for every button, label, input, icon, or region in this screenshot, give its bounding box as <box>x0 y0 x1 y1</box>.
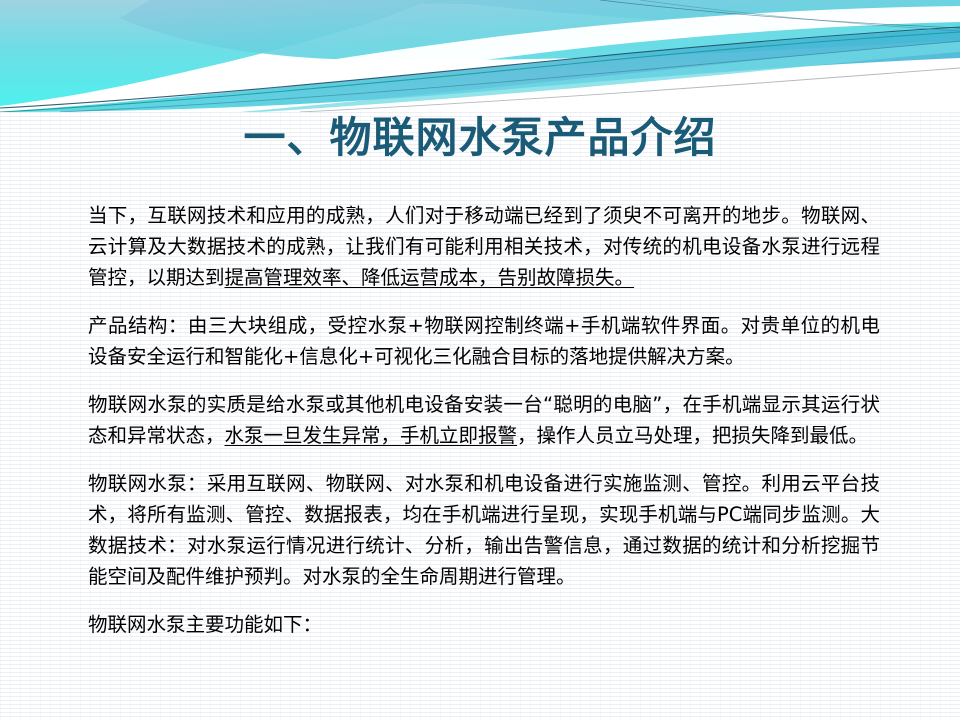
wave-hairline-navy <box>0 27 960 108</box>
text-segment: 物联网水泵：采用互联网、物联网、对水泵和机电设备进行实施监测、管控。利用云平台技… <box>88 472 880 588</box>
text-segment-underlined: 提高管理效率、降低运营成本，告别故障损失。 <box>225 266 635 289</box>
wave-hairline-teal <box>0 32 960 112</box>
text-segment: 物联网水泵主要功能如下： <box>88 613 322 636</box>
wave-upper-band <box>0 0 960 27</box>
wave-left-mass <box>0 0 430 106</box>
wave-lower-ribbon <box>0 28 960 112</box>
wave-hairline-top <box>600 0 960 28</box>
wave-hairline-gray <box>300 68 960 112</box>
wave-thin-ribbon <box>240 42 960 112</box>
slide-body: 当下，互联网技术和应用的成熟，人们对于移动端已经到了须臾不可离开的地步。物联网、… <box>88 200 880 640</box>
wave-base <box>0 0 960 112</box>
paragraph-essence: 物联网水泵的实质是给水泵或其他机电设备安装一台“聪明的电脑”，在手机端显示其运行… <box>88 389 880 451</box>
title-block: 一、物联网水泵产品介绍 <box>0 113 960 163</box>
paragraph-technology: 物联网水泵：采用互联网、物联网、对水泵和机电设备进行实施监测、管控。利用云平台技… <box>88 468 880 592</box>
page-title: 一、物联网水泵产品介绍 <box>0 113 960 163</box>
wave-hairline-steel <box>60 41 960 112</box>
wave-hairline-top-2 <box>640 0 960 31</box>
wave-white-swoosh <box>0 6 960 112</box>
text-segment: 产品结构：由三大块组成，受控水泵+物联网控制终端+手机端软件界面。对贵单位的机电… <box>88 314 880 368</box>
paragraph-intro: 当下，互联网技术和应用的成熟，人们对于移动端已经到了须臾不可离开的地步。物联网、… <box>88 200 880 293</box>
text-segment-underlined: 水泵一旦发生异常，手机立即报警 <box>225 424 518 447</box>
text-segment: ，操作人员立马处理，把损失降到最低。 <box>517 424 868 447</box>
wave-mid-band <box>120 0 960 60</box>
paragraph-product-structure: 产品结构：由三大块组成，受控水泵+物联网控制终端+手机端软件界面。对贵单位的机电… <box>88 310 880 372</box>
paragraph-functions-lead: 物联网水泵主要功能如下： <box>88 609 880 640</box>
wave-banner-decoration <box>0 0 960 112</box>
presentation-slide: 一、物联网水泵产品介绍 当下，互联网技术和应用的成熟，人们对于移动端已经到了须臾… <box>0 0 960 720</box>
wave-banner-svg <box>0 0 960 112</box>
